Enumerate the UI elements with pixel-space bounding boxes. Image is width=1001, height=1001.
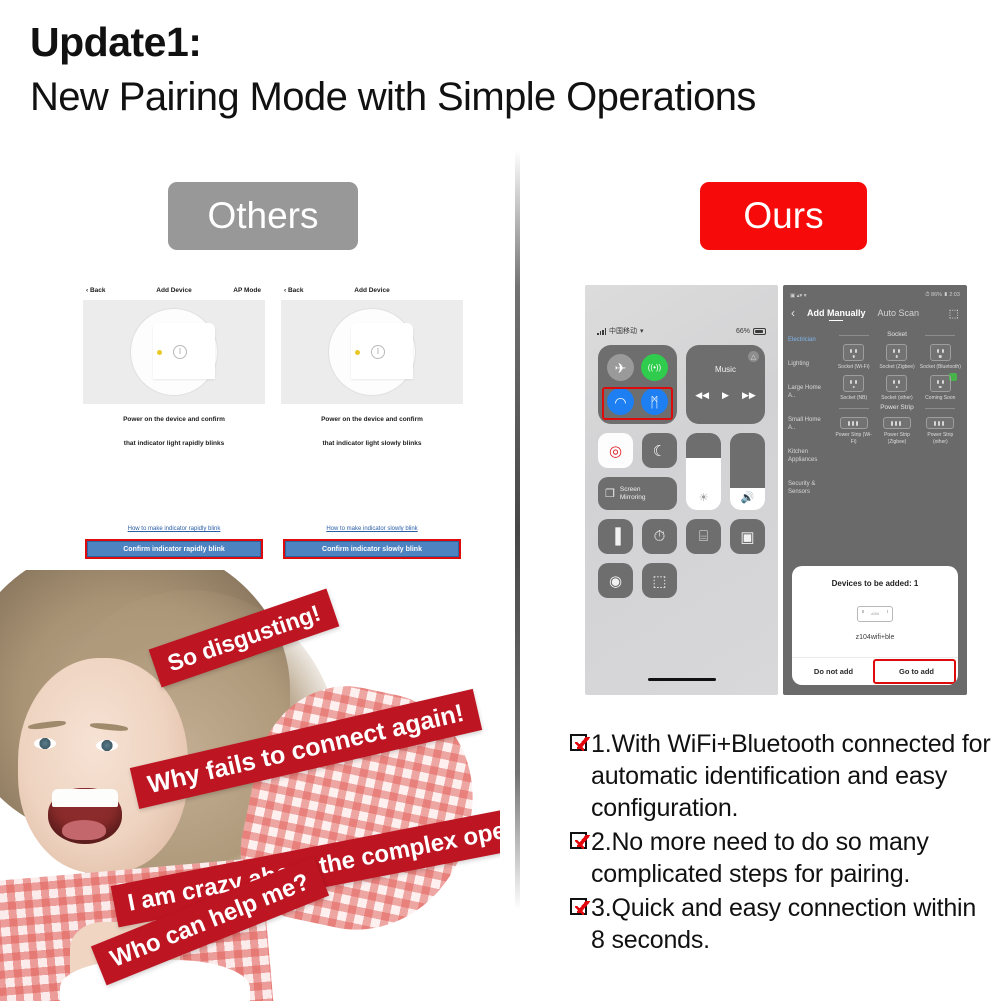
screen-mirroring-icon: ❐ [605, 490, 615, 498]
section-title-socket: Socket [833, 331, 961, 338]
ap-mode-button[interactable]: AP Mode [233, 287, 261, 294]
ours-label: Ours [700, 182, 867, 250]
app-navbar: ‹ Add Manually Auto Scan ⬚ [783, 302, 967, 324]
socket-product-grid: Socket (Wi-Fi) Socket (Zigbee) Socket (B… [833, 344, 961, 401]
confirm-button[interactable]: Confirm indicator slowly blink [285, 541, 459, 557]
control-center-grid: ✈ ((•)) ◠ ᛗ △ Music ◀◀ ▶ ▶▶ [598, 345, 765, 598]
airplay-icon[interactable]: △ [748, 351, 759, 362]
checkmark-icon [570, 734, 587, 751]
product-label: Socket (NB) [833, 395, 874, 402]
signal-icon [597, 328, 606, 335]
device-circle [328, 308, 416, 396]
power-strip-icon [883, 417, 911, 429]
sidebar-item-lighting[interactable]: Lighting [783, 352, 827, 376]
indicator-led-icon [157, 350, 162, 355]
others-screen-2: ‹ Back Add Device Power on the device an… [281, 283, 463, 568]
frustrated-woman-photo: So disgusting! Why fails to connect agai… [0, 570, 500, 1001]
heading-line-1: Update1: [30, 18, 990, 66]
eye-right [96, 740, 118, 751]
product-tile[interactable]: Power Strip (other) [920, 417, 961, 445]
indicator-led-icon [355, 350, 360, 355]
product-label: Power Strip (Wi-Fi) [833, 432, 874, 445]
socket-icon [930, 375, 951, 392]
eye-left [34, 738, 56, 749]
list-item: 1.With WiFi+Bluetooth connected for auto… [570, 728, 995, 824]
battery-icon [753, 328, 766, 335]
camera-icon[interactable]: ▣ [730, 519, 765, 554]
benefit-text: 2.No more need to do so many complicated… [591, 826, 995, 890]
product-label: Power Strip (Zigbee) [876, 432, 917, 445]
heading-line-2: New Pairing Mode with Simple Operations [30, 72, 990, 122]
power-button-icon [173, 345, 187, 359]
status-bar: 中国移动 ▾ 66% [597, 325, 766, 337]
do-not-add-button[interactable]: Do not add [792, 658, 875, 685]
connectivity-panel[interactable]: ✈ ((•)) ◠ ᛗ [598, 345, 677, 424]
instruction-line-2: that indicator light slowly blinks [281, 436, 463, 452]
white-top [60, 960, 250, 1001]
cc-sliders: ☀ 🔊 [686, 433, 765, 510]
music-panel[interactable]: △ Music ◀◀ ▶ ▶▶ [686, 345, 765, 424]
others-screenshots: ‹ Back Add Device AP Mode Power on the d… [83, 283, 463, 568]
power-button-icon [371, 345, 385, 359]
cc-fourth-row: ◉ ⬚ [598, 563, 765, 598]
benefits-list: 1.With WiFi+Bluetooth connected for auto… [570, 728, 995, 958]
flashlight-icon[interactable]: ▐ [598, 519, 633, 554]
battery-percent-label: 66% [736, 328, 750, 335]
go-to-add-highlight [873, 659, 956, 684]
cc-second-row: ◎ ☾ ❐ Screen Mirroring [598, 433, 765, 510]
product-label: Socket (other) [876, 395, 917, 402]
section-title-power-strip: Power Strip [833, 404, 961, 411]
screen-mirroring-label: Screen Mirroring [620, 486, 646, 502]
timer-icon[interactable]: ⏱ [642, 519, 677, 554]
teeth [52, 789, 118, 807]
devices-to-add-dialog: Devices to be added: 1 z104 z104wifi+ble… [792, 566, 958, 685]
volume-icon: 🔊 [730, 491, 765, 504]
list-item: 2.No more need to do so many complicated… [570, 826, 995, 890]
sidebar-item-security-sensors[interactable]: Security & Sensors [783, 472, 827, 504]
carrier-label: 中国移动 [609, 326, 637, 336]
device-illustration [83, 300, 265, 404]
instruction-line-2: that indicator light rapidly blinks [83, 436, 265, 452]
navbar-title: Add Device [281, 287, 463, 294]
dialog-title: Devices to be added: 1 [792, 566, 958, 588]
status-bar-right: 66% [736, 328, 766, 335]
socket-icon [886, 375, 907, 392]
back-icon[interactable]: ‹ [791, 306, 807, 320]
music-play-icon[interactable]: ▶ [722, 390, 729, 401]
cta-highlight: Confirm indicator rapidly blink [85, 539, 263, 559]
howto-link[interactable]: How to make indicator rapidly blink [83, 526, 265, 532]
product-tile-coming-soon[interactable]: Coming Soon [920, 375, 961, 402]
cellular-data-icon[interactable]: ((•)) [641, 354, 668, 381]
app-navbar: ‹ Back Add Device [281, 283, 463, 298]
product-tile[interactable]: Power Strip (Zigbee) [876, 417, 917, 445]
others-label: Others [168, 182, 358, 250]
rotation-lock-icon[interactable]: ◎ [598, 433, 633, 468]
discovered-device-name: z104wifi+ble [792, 634, 958, 657]
cc-toggle-row: ◎ ☾ [598, 433, 677, 468]
socket-icon [843, 344, 864, 361]
cc-left-column: ◎ ☾ ❐ Screen Mirroring [598, 433, 677, 510]
product-tile[interactable]: Socket (other) [876, 375, 917, 402]
app-content: Electrician Lighting Large Home A.. Smal… [783, 324, 967, 569]
instruction-line-1: Power on the device and confirm [83, 412, 265, 428]
dialog-actions: Do not add Go to add [792, 657, 958, 685]
ios-control-center: 中国移动 ▾ 66% ✈ ((•)) ◠ ᛗ [585, 285, 778, 695]
tongue [62, 820, 106, 840]
status-bar-left: 中国移动 ▾ [597, 326, 644, 336]
tab-add-manually[interactable]: Add Manually [807, 308, 866, 318]
qr-scan-icon[interactable]: ⬚ [949, 307, 959, 320]
device-illustration [281, 300, 463, 404]
sidebar-item-kitchen-appliances[interactable]: Kitchen Appliances [783, 440, 827, 472]
wifi-bluetooth-highlight [602, 387, 673, 420]
screen-mirroring-button[interactable]: ❐ Screen Mirroring [598, 477, 677, 510]
page-title: Update1: New Pairing Mode with Simple Op… [30, 18, 990, 122]
socket-icon [930, 344, 951, 361]
product-label: Socket (Bluetooth) [920, 364, 961, 371]
music-label: Music [686, 365, 765, 374]
sidebar-item-small-home-appliances[interactable]: Small Home A.. [783, 408, 827, 440]
product-label: Socket (Wi-Fi) [833, 364, 874, 371]
product-tile[interactable]: Socket (NB) [833, 375, 874, 402]
app-status-bar: ▣ ▴▾ ▾ ⏱ 86% ▮ 2:03 [783, 289, 967, 302]
brightness-slider[interactable]: ☀ [686, 433, 721, 510]
app-navbar: ‹ Back Add Device AP Mode [83, 283, 265, 298]
sidebar-item-large-home-appliances[interactable]: Large Home A.. [783, 376, 827, 408]
product-tile[interactable]: Power Strip (Wi-Fi) [833, 417, 874, 445]
cta-highlight: Confirm indicator slowly blink [283, 539, 461, 559]
instruction-line-1: Power on the device and confirm [281, 412, 463, 428]
brightness-fill [686, 433, 721, 458]
promo-page: Update1: New Pairing Mode with Simple Op… [0, 0, 1001, 1001]
status-right: ⏱ 86% ▮ 2:03 [925, 292, 960, 299]
product-tile[interactable]: Socket (Bluetooth) [920, 344, 961, 371]
tab-auto-scan[interactable]: Auto Scan [878, 308, 920, 318]
benefit-text: 1.With WiFi+Bluetooth connected for auto… [591, 728, 995, 824]
brightness-icon: ☀ [686, 491, 721, 504]
music-controls: ◀◀ ▶ ▶▶ [686, 390, 765, 401]
cc-third-row: ▐ ⏱ ⌸ ▣ [598, 519, 765, 554]
power-strip-product-grid: Power Strip (Wi-Fi) Power Strip (Zigbee)… [833, 417, 961, 445]
checkmark-icon [570, 898, 587, 915]
music-next-icon[interactable]: ▶▶ [742, 390, 756, 401]
device-circle [130, 308, 218, 396]
smart-app-screen: ▣ ▴▾ ▾ ⏱ 86% ▮ 2:03 ‹ Add Manually Auto … [783, 285, 967, 695]
center-divider [515, 150, 520, 910]
product-label: Socket (Zigbee) [876, 364, 917, 371]
socket-icon [886, 344, 907, 361]
volume-fill [730, 433, 765, 488]
benefit-text: 3.Quick and easy connection within 8 sec… [591, 892, 995, 956]
cc-top-row: ✈ ((•)) ◠ ᛗ △ Music ◀◀ ▶ ▶▶ [598, 345, 765, 424]
screen-record-icon[interactable]: ◉ [598, 563, 633, 598]
list-item: 3.Quick and easy connection within 8 sec… [570, 892, 995, 956]
confirm-button[interactable]: Confirm indicator rapidly blink [87, 541, 261, 557]
product-label: Power Strip (other) [920, 432, 961, 445]
power-strip-icon [926, 417, 954, 429]
power-strip-icon [840, 417, 868, 429]
product-tile[interactable]: Socket (Zigbee) [876, 344, 917, 371]
airplane-mode-icon[interactable]: ✈ [607, 354, 634, 381]
screen-mirroring-line2: Mirroring [620, 494, 646, 501]
discovered-device-icon: z104 [857, 606, 893, 622]
music-prev-icon[interactable]: ◀◀ [695, 390, 709, 401]
do-not-disturb-moon-icon[interactable]: ☾ [642, 433, 677, 468]
product-area: Socket Socket (Wi-Fi) Socket (Zigbee) [827, 324, 967, 569]
others-screen-1: ‹ Back Add Device AP Mode Power on the d… [83, 283, 265, 568]
status-left: ▣ ▴▾ ▾ [790, 293, 807, 299]
checkmark-icon [570, 832, 587, 849]
device-tag-label: z104 [871, 612, 879, 616]
wifi-status-icon: ▾ [640, 327, 644, 335]
product-tile[interactable]: Socket (Wi-Fi) [833, 344, 874, 371]
home-indicator [648, 678, 716, 682]
socket-icon [843, 375, 864, 392]
screen-mirroring-line1: Screen [620, 486, 641, 493]
category-sidebar: Electrician Lighting Large Home A.. Smal… [783, 324, 827, 569]
sidebar-item-electrician[interactable]: Electrician [783, 328, 827, 352]
volume-slider[interactable]: 🔊 [730, 433, 765, 510]
howto-link[interactable]: How to make indicator slowly blink [281, 526, 463, 532]
product-label: Coming Soon [920, 395, 961, 402]
calculator-icon[interactable]: ⌸ [686, 519, 721, 554]
qr-scanner-icon[interactable]: ⬚ [642, 563, 677, 598]
